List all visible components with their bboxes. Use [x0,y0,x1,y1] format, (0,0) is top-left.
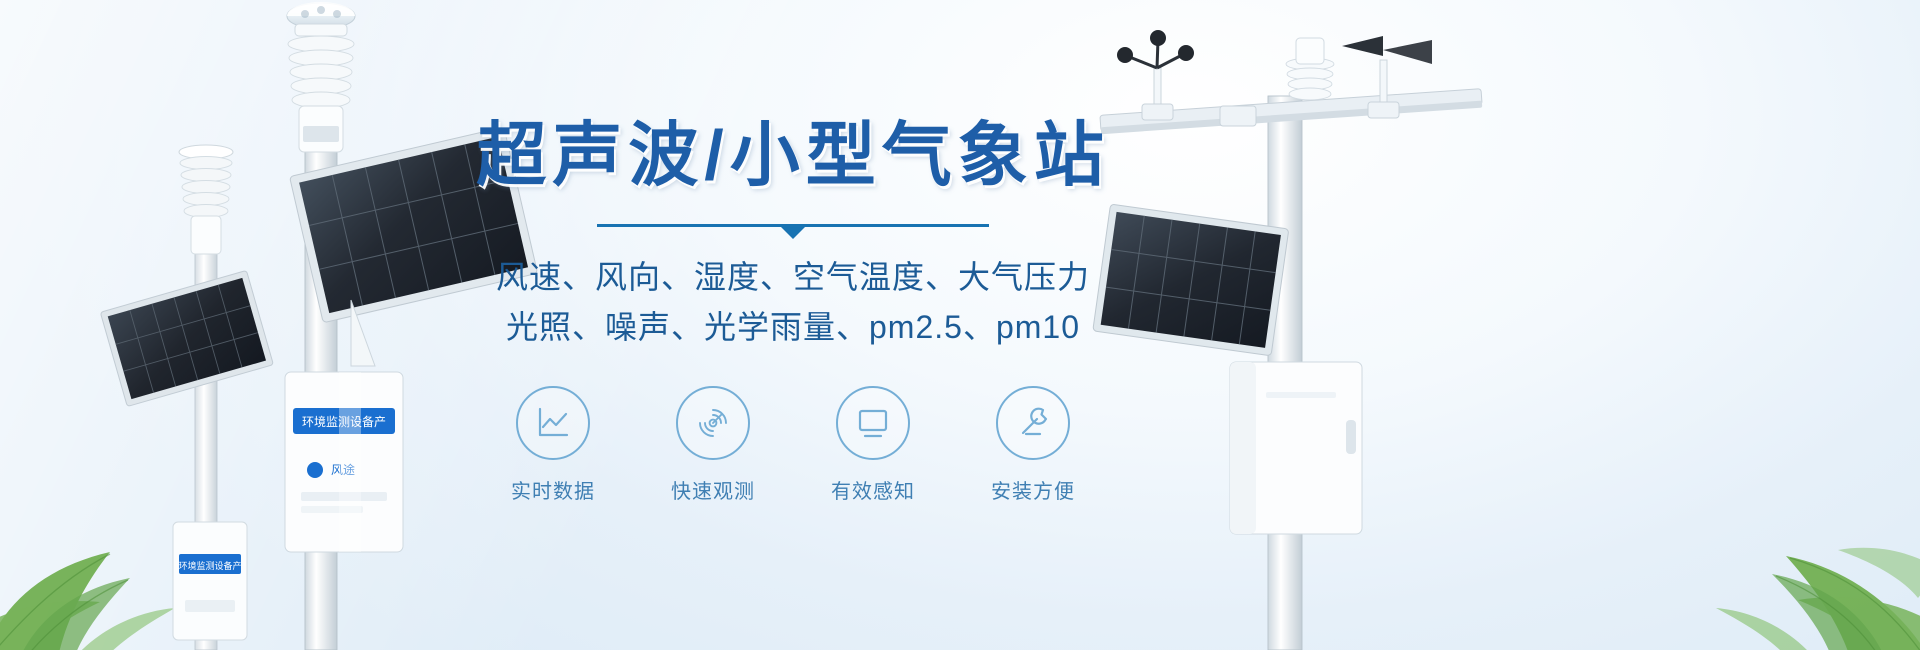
svg-text:风途: 风途 [331,462,355,477]
product-banner: 环境监测设备产 [0,0,1920,650]
feature-item-realtime-data[interactable]: 实时数据 [491,386,615,504]
subtitle-group: 风速、风向、湿度、空气温度、大气压力 光照、噪声、光学雨量、pm2.5、pm10 [448,253,1138,352]
wrench-icon [1013,403,1053,443]
feature-icon-circle [516,386,590,460]
feature-item-easy-install[interactable]: 安装方便 [971,386,1095,504]
line-chart-icon [533,403,573,443]
divider-with-triangle [597,224,989,227]
feature-item-fast-observation[interactable]: 快速观测 [651,386,775,504]
monitor-icon [853,403,893,443]
feature-icon-circle [996,386,1070,460]
leaf-decoration-left [0,440,270,650]
radar-scan-icon [693,403,733,443]
leaf-decoration-right [1610,420,1920,650]
feature-label: 安装方便 [971,475,1095,504]
banner-content: 超声波/小型气象站 风速、风向、湿度、空气温度、大气压力 光照、噪声、光学雨量、… [448,120,1138,504]
feature-icon-circle [836,386,910,460]
feature-list: 实时数据 快速观测 [448,386,1138,504]
page-title: 超声波/小型气象站 [448,120,1138,190]
feature-label: 实时数据 [491,475,615,504]
feature-icon-circle [676,386,750,460]
feature-label: 有效感知 [811,475,935,504]
svg-text:环境监测设备产: 环境监测设备产 [302,414,386,429]
weather-station-left-small: 环境监测设备产 [95,130,325,650]
feature-label: 快速观测 [651,475,775,504]
subtitle-line-1: 风速、风向、湿度、空气温度、大气压力 [448,253,1138,303]
feature-item-effective-sensing[interactable]: 有效感知 [811,386,935,504]
svg-text:环境监测设备产: 环境监测设备产 [178,560,241,571]
subtitle-line-2: 光照、噪声、光学雨量、pm2.5、pm10 [448,303,1138,353]
weather-station-right [1080,10,1500,650]
